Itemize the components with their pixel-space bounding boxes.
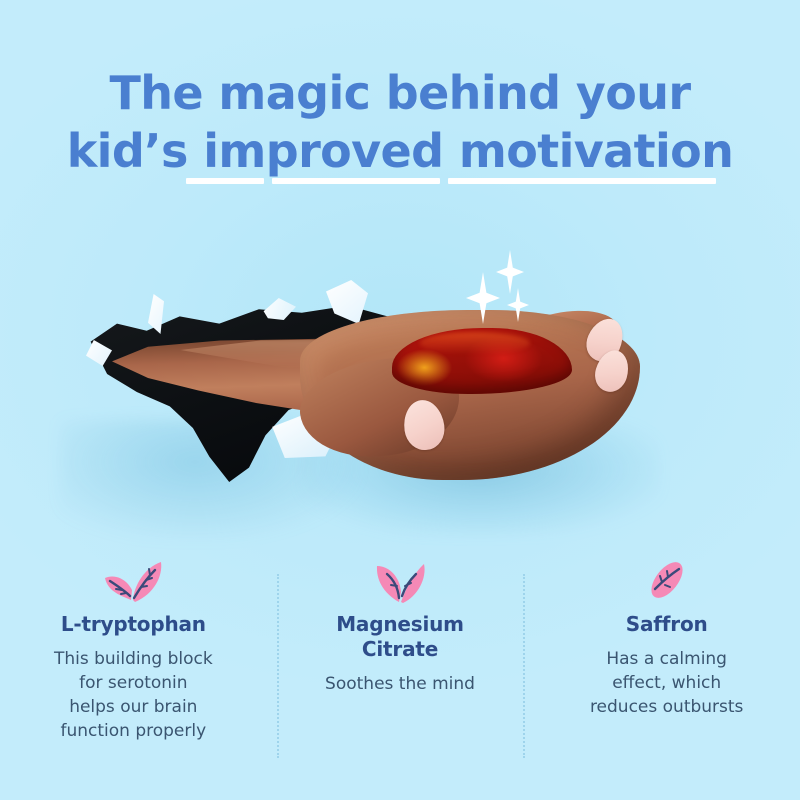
benefit-title: Saffron [543,612,790,637]
benefit-title: L-tryptophan [10,612,257,637]
underline-segment-2 [272,178,440,184]
promo-poster: The magic behind your kid’s improved mot… [0,0,800,800]
sprout-leaf-icon [10,552,257,604]
headline-underline [0,178,800,184]
underline-segment-3 [448,178,716,184]
benefit-l-tryptophan: L-tryptophan This building block for ser… [0,552,267,782]
benefit-description: Has a calming effect, which reduces outb… [543,647,790,719]
headline-line-1: The magic behind your [0,64,800,122]
benefit-magnesium-citrate: Magnesium Citrate Soothes the mind [267,552,534,782]
headline-block: The magic behind your kid’s improved mot… [0,64,800,180]
hero-image [0,210,800,540]
benefit-saffron: Saffron Has a calming effect, which redu… [533,552,800,782]
benefits-row: L-tryptophan This building block for ser… [0,552,800,782]
single-leaf-icon [543,552,790,604]
benefit-description: This building block for serotonin helps … [10,647,257,743]
benefit-description: Soothes the mind [277,672,524,696]
benefit-title: Magnesium Citrate [277,612,524,662]
sprout-leaf-icon [277,552,524,604]
headline-line-2: kid’s improved motivation [0,122,800,180]
saffron-highlight [420,332,530,354]
underline-segment-1 [186,178,264,184]
